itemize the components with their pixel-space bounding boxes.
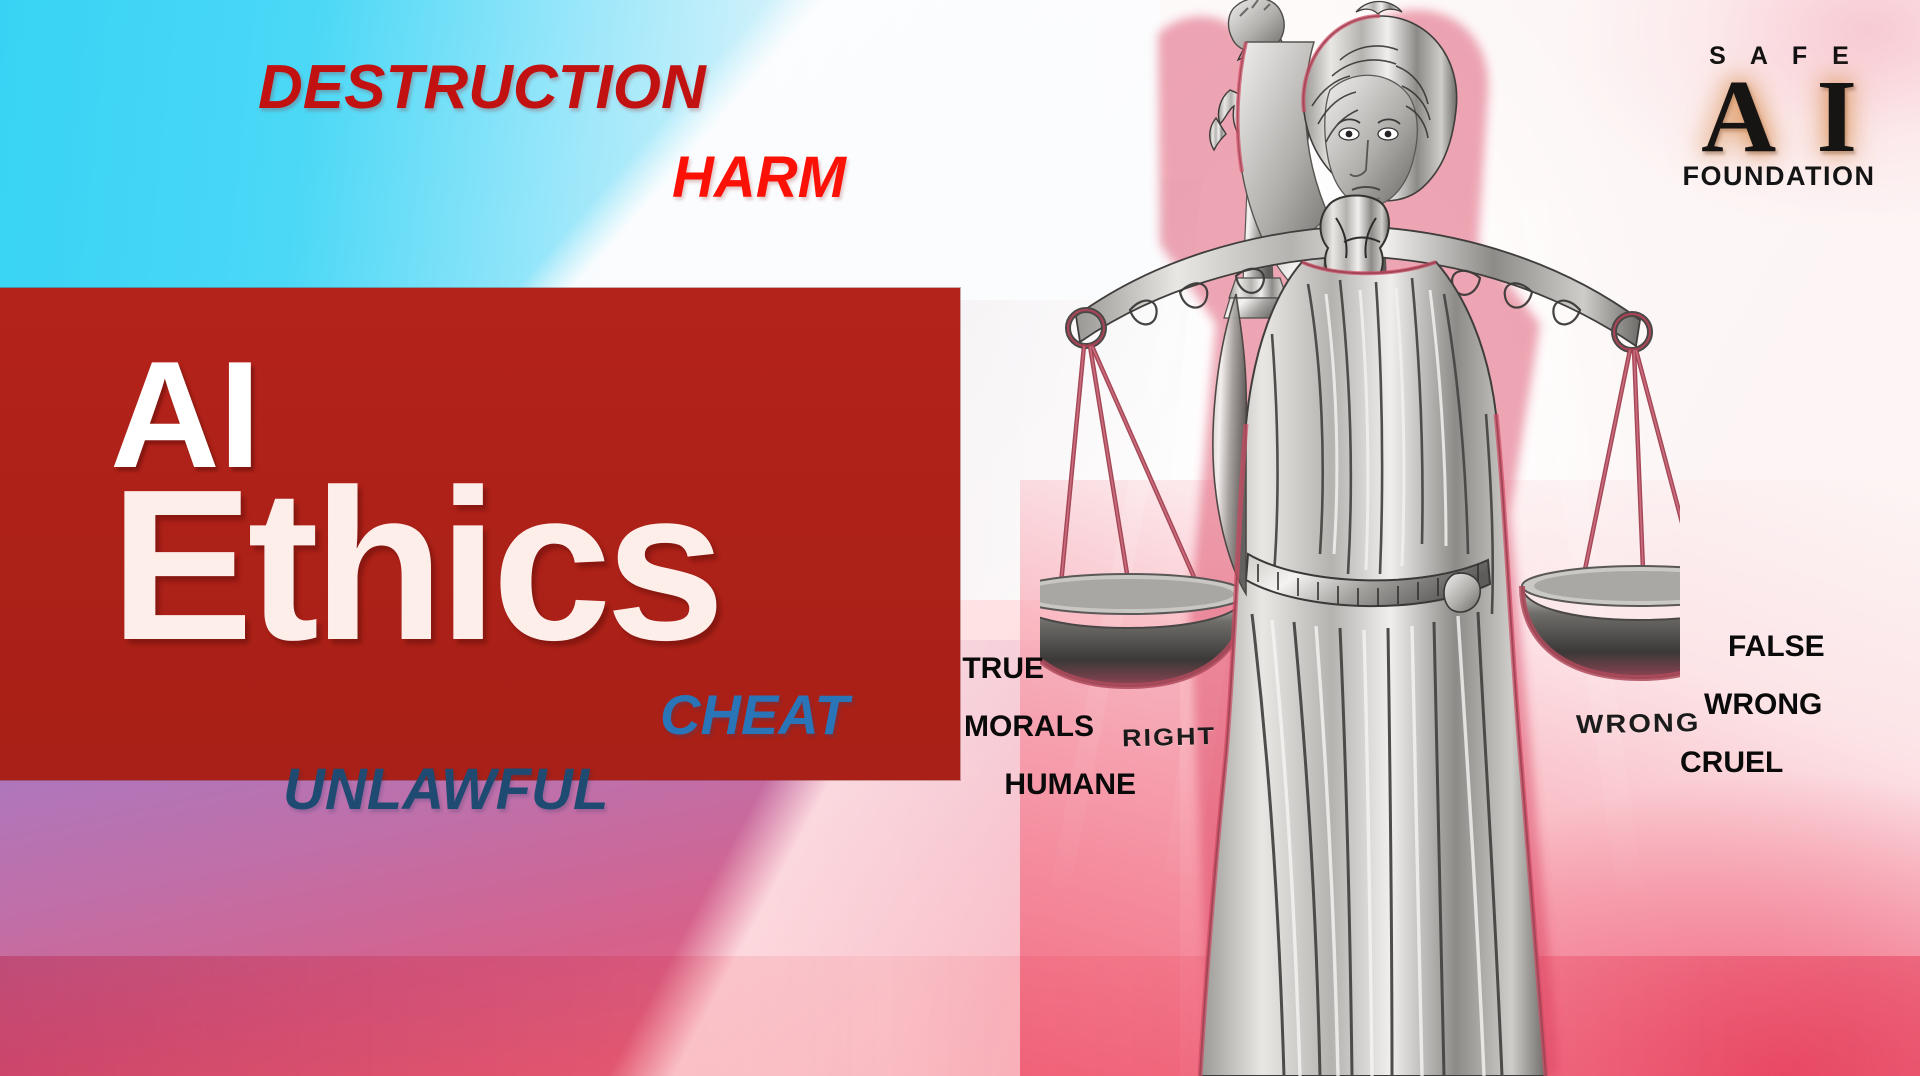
logo-ai-mark: A I [1654, 65, 1904, 169]
vice-word-false: FALSE [1680, 632, 1916, 662]
word-unlawful: UNLAWFUL [283, 756, 608, 823]
vice-word-wrong: WRONG [1680, 690, 1916, 720]
logo-bottom-text: FOUNDATION [1654, 163, 1904, 190]
poster-canvas: RIGHT WRONG AI Ethics DESTRUCTION HARM C… [0, 0, 1920, 1076]
word-cheat: CHEAT [660, 682, 849, 747]
lady-justice-statue [1040, 0, 1680, 1076]
safe-ai-foundation-logo: S A F E A I FOUNDATION [1654, 44, 1904, 190]
word-destruction: DESTRUCTION [258, 52, 706, 123]
virtue-word-morals: MORALS [920, 712, 1136, 742]
page-title-line-2: Ethics [110, 466, 719, 664]
wrong-pan-vice-list: FALSE WRONG CRUEL [1680, 632, 1916, 806]
word-harm: HARM [672, 144, 846, 211]
virtue-word-true: TRUE [920, 654, 1136, 684]
vice-word-cruel: CRUEL [1680, 748, 1916, 778]
right-pan-virtue-list: TRUE MORALS HUMANE [920, 654, 1136, 828]
background-cyan-diagonal-cut [0, 0, 1160, 300]
virtue-word-humane: HUMANE [920, 770, 1136, 800]
